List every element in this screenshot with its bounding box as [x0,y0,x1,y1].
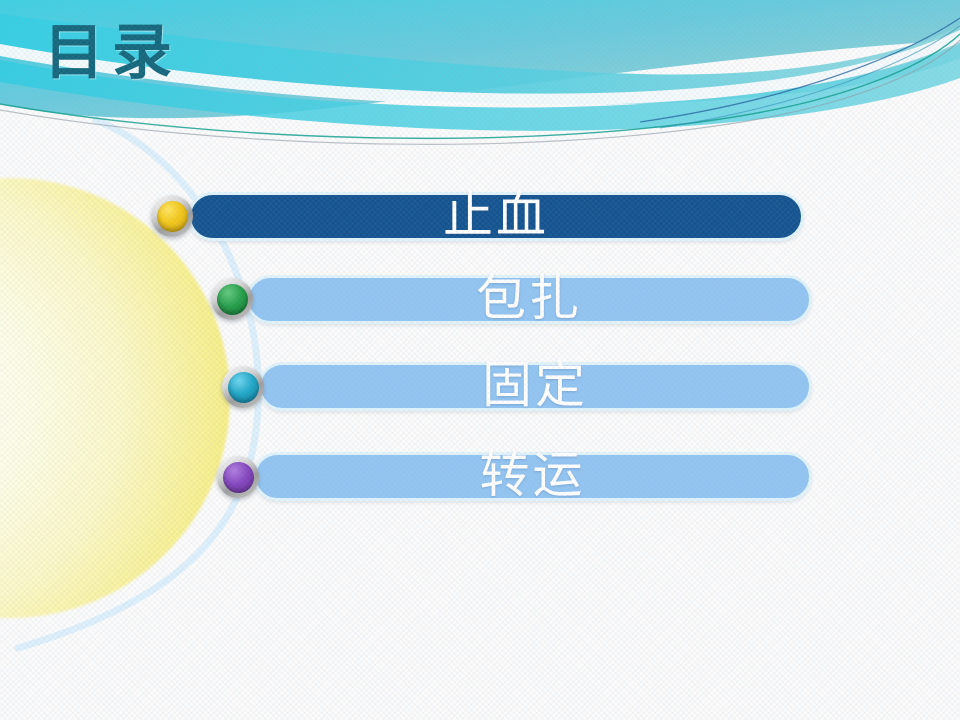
bullet-core-gold-icon [157,201,188,232]
bullet-marker-purple-icon[interactable] [217,456,259,498]
toc-bar-4[interactable]: 转运 [253,452,812,501]
bullet-core-purple-icon [223,462,254,493]
toc-label-1: 止血 [443,190,549,240]
toc-bar-3[interactable]: 固定 [258,362,812,411]
toc-bar-1[interactable]: 止血 [188,192,804,241]
table-of-contents-list: 止血 包扎 固定 转运 [0,0,960,720]
bullet-core-cyan-icon [228,372,259,403]
toc-label-3: 固定 [482,360,588,410]
toc-label-2: 包扎 [476,273,582,323]
bullet-marker-green-icon[interactable] [211,278,253,320]
bullet-marker-cyan-icon[interactable] [222,366,264,408]
bullet-marker-gold-icon[interactable] [151,195,193,237]
bullet-core-green-icon [217,284,248,315]
toc-label-4: 转运 [480,450,586,500]
toc-bar-2[interactable]: 包扎 [246,275,812,324]
presentation-slide: 目录 止血 包扎 固定 [0,0,960,720]
